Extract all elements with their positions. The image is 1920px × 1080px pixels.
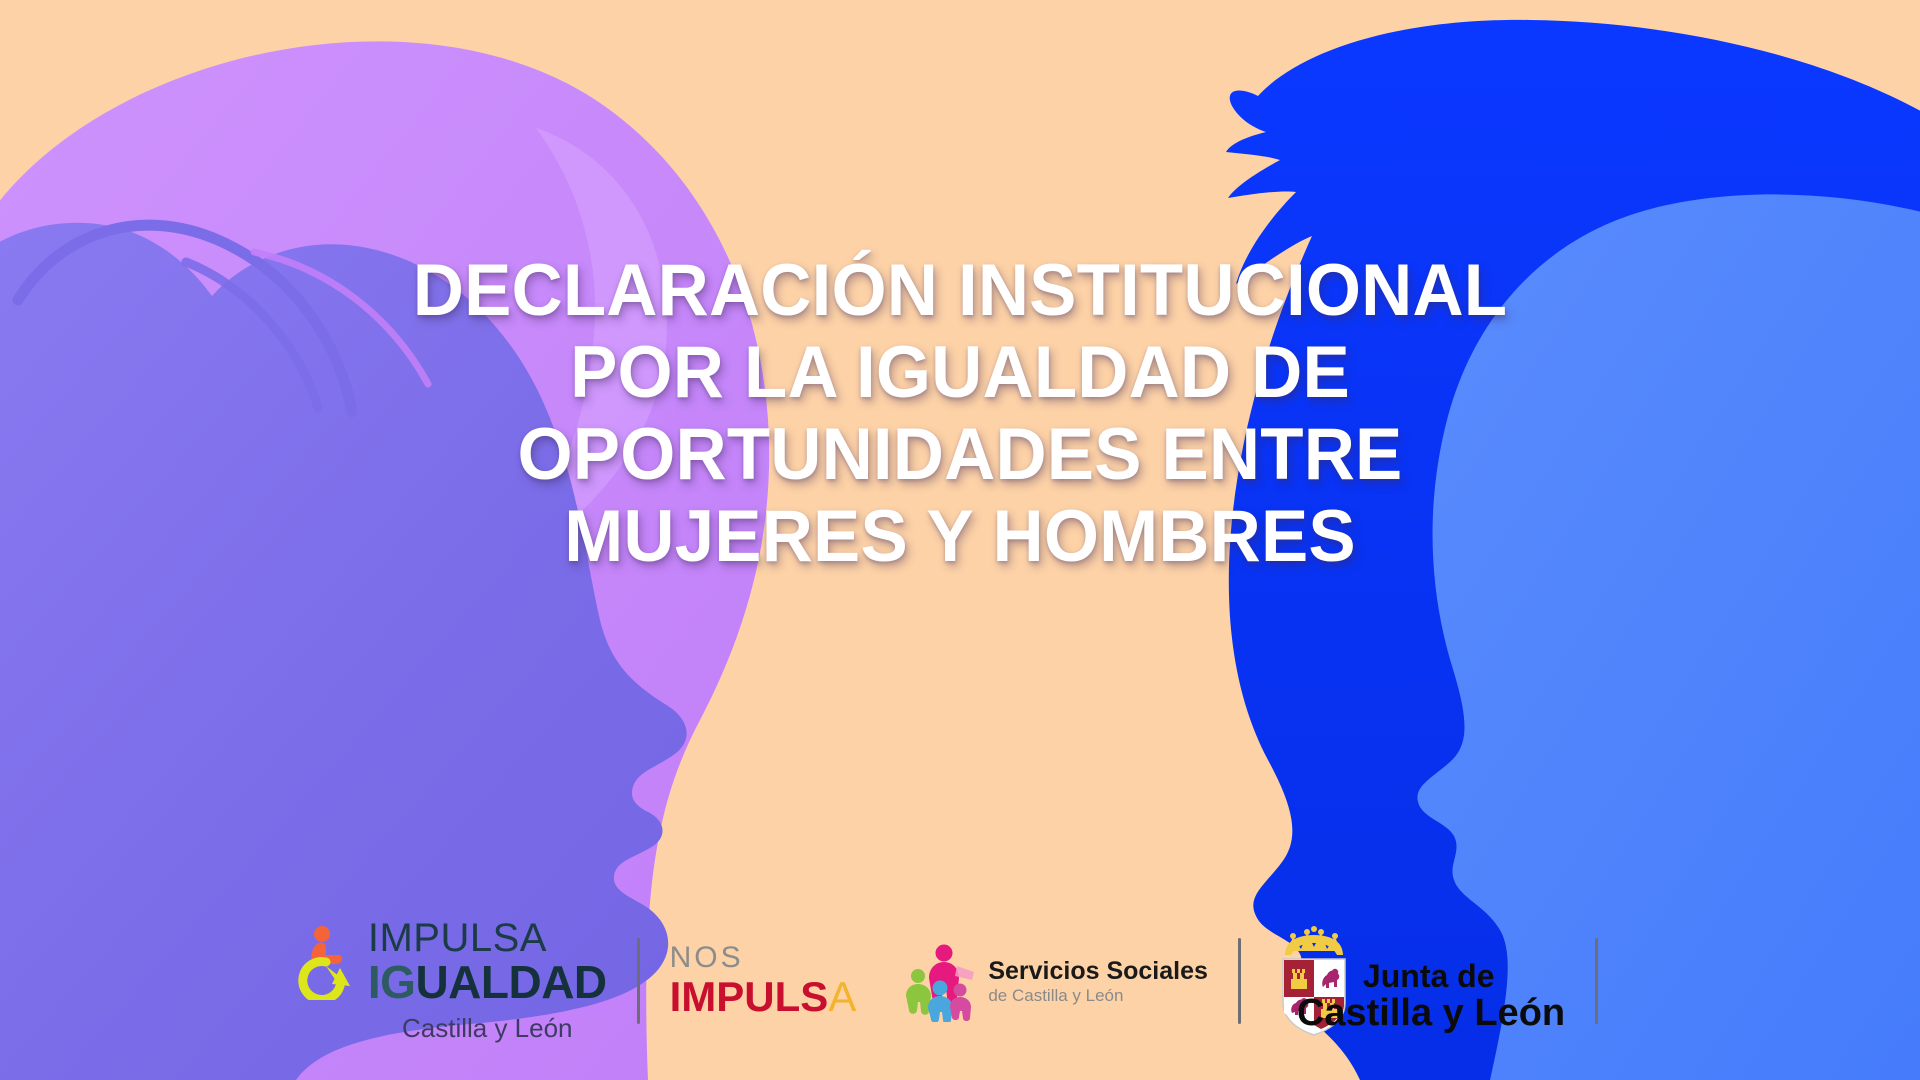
impulsa-line2-rest: UALDAD <box>415 956 606 1008</box>
servicios-line2: de Castilla y León <box>988 986 1123 1005</box>
junta-line1: Junta de <box>1363 959 1495 993</box>
nos-line2: IMPULSA <box>670 975 857 1019</box>
impulsa-line1: IMPULSA <box>368 918 547 958</box>
logo-nos-impulsa[interactable]: NOS IMPULSA <box>670 943 857 1019</box>
servicios-line1: Servicios Sociales <box>988 958 1208 985</box>
nos-accent-a: A <box>828 973 856 1020</box>
impulsa-line2: IGUALDAD <box>368 959 607 1005</box>
logo-junta-castilla-leon[interactable]: Junta de Castilla y León <box>1271 925 1565 1037</box>
impulsa-line3: Castilla y León <box>402 1013 573 1044</box>
poster-canvas: DECLARACIÓN INSTITUCIONAL POR LA IGUALDA… <box>0 0 1920 1080</box>
junta-line2: Castilla y León <box>1297 993 1565 1033</box>
people-group-icon <box>902 940 980 1022</box>
logo-bar: IMPULSA IGUALDAD Castilla y León NOS IMP… <box>0 918 1920 1044</box>
wheelchair-arrow-icon <box>292 924 358 1000</box>
nos-impulsa-word: IMPULS <box>670 973 829 1020</box>
logo-separator-1 <box>637 938 640 1024</box>
castle-charge-1 <box>1291 969 1307 989</box>
logo-impulsa-igualdad[interactable]: IMPULSA IGUALDAD Castilla y León <box>292 918 607 1044</box>
nos-line1: NOS <box>670 943 744 973</box>
logo-separator-3 <box>1595 938 1598 1024</box>
logo-separator-2 <box>1238 938 1241 1024</box>
crown-icon <box>1285 926 1343 955</box>
impulsa-line2-highlight: IG <box>368 956 416 1008</box>
logo-servicios-sociales[interactable]: Servicios Sociales de Castilla y León <box>902 940 1208 1022</box>
